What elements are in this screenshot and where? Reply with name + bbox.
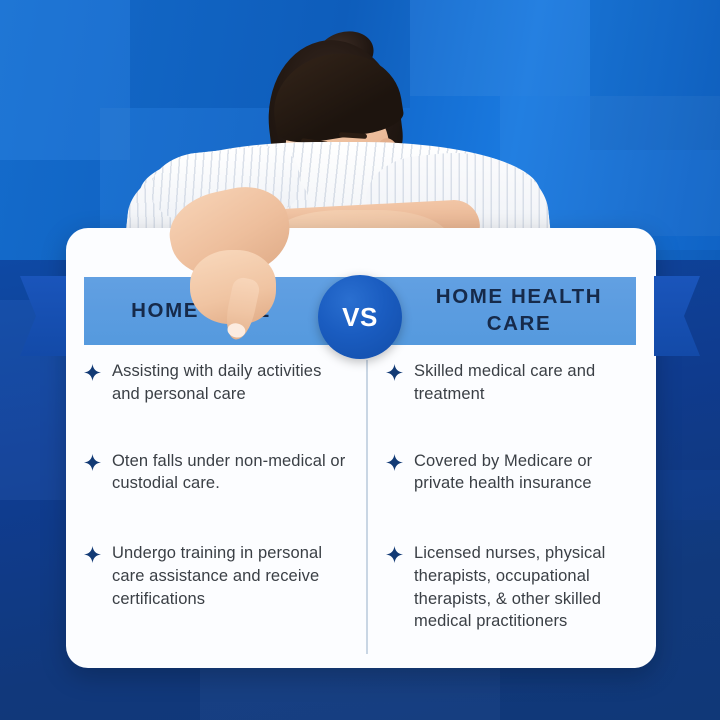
ribbon-tail-left	[20, 276, 66, 356]
list-item-text: Skilled medical care and treatment	[414, 360, 640, 406]
sparkle-star-icon	[84, 364, 101, 381]
sparkle-star-icon	[84, 454, 101, 471]
list-item: Licensed nurses, physical therapists, oc…	[386, 542, 640, 633]
list-item: Skilled medical care and treatment	[386, 360, 640, 406]
sparkle-star-icon	[84, 546, 101, 563]
list-item: Assisting with daily activities and pers…	[84, 360, 350, 406]
left-column: Assisting with daily activities and pers…	[66, 356, 366, 668]
sparkle-star-icon	[386, 454, 403, 471]
vs-badge: VS	[318, 275, 402, 359]
list-item-text: Licensed nurses, physical therapists, oc…	[414, 542, 640, 633]
vs-label: VS	[342, 302, 378, 333]
list-item: Undergo training in personal care assist…	[84, 542, 350, 610]
list-item: Oten falls under non-medical or custodia…	[84, 450, 350, 496]
list-item-text: Undergo training in personal care assist…	[112, 542, 350, 610]
right-column-heading: HOME HEALTH CARE	[402, 277, 636, 345]
sparkle-star-icon	[386, 364, 403, 381]
column-divider	[366, 360, 368, 654]
sparkle-star-icon	[386, 546, 403, 563]
ribbon-tail-right	[654, 276, 700, 356]
list-item: Covered by Medicare or private health in…	[386, 450, 640, 496]
right-column: Skilled medical care and treatment Cover…	[366, 356, 656, 668]
list-item-text: Oten falls under non-medical or custodia…	[112, 450, 350, 496]
list-item-text: Assisting with daily activities and pers…	[112, 360, 350, 406]
list-item-text: Covered by Medicare or private health in…	[414, 450, 640, 496]
pointing-arm	[150, 150, 330, 325]
comparison-columns: Assisting with daily activities and pers…	[66, 356, 656, 668]
